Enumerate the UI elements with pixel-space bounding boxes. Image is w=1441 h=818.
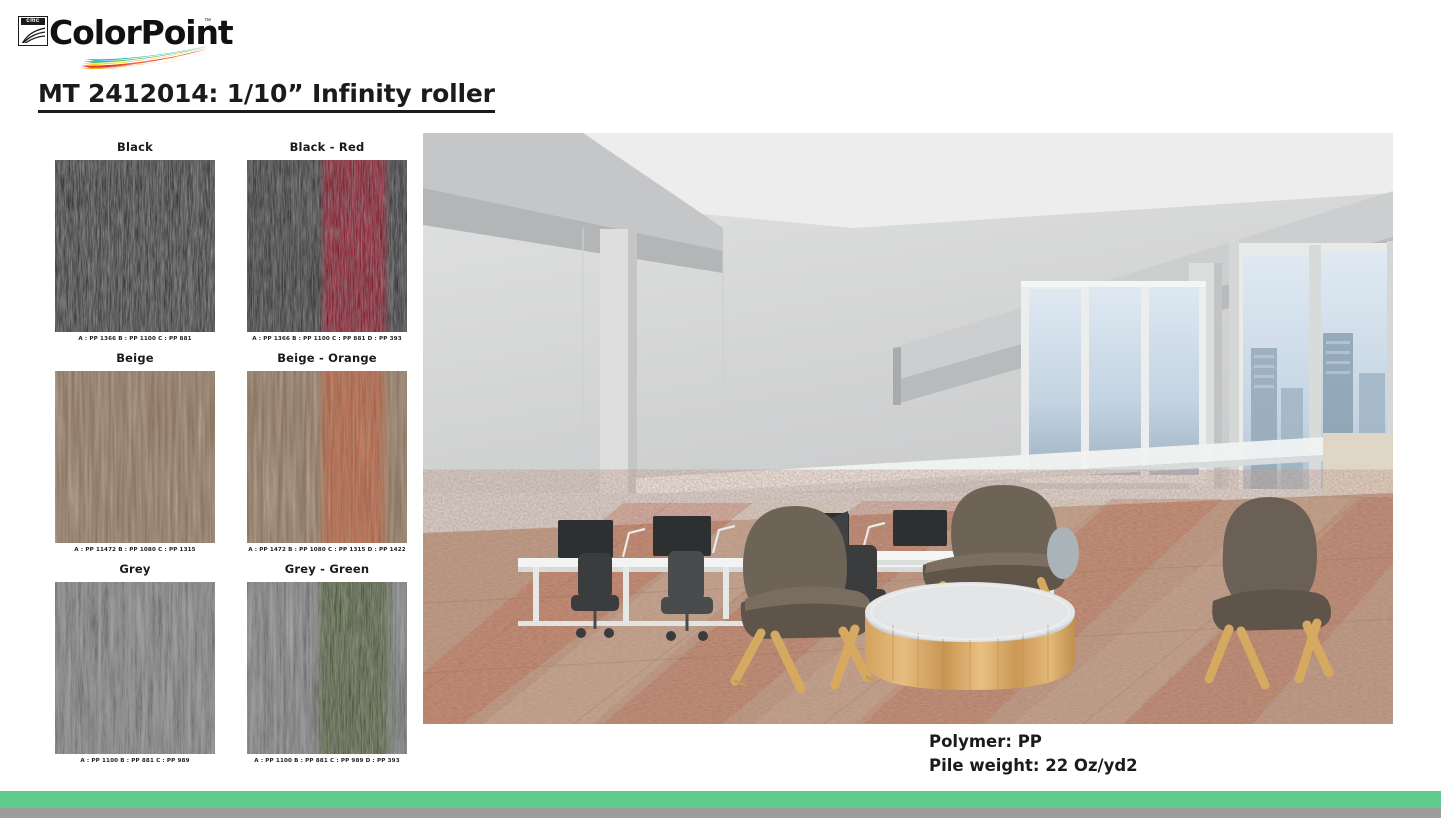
swatch-card-beige-orange[interactable]: Beige - Orange xyxy=(247,351,407,553)
swatch-label: Grey xyxy=(55,562,215,577)
swatch-yarn-codes: A : PP 1472 B : PP 1080 C : PP 1315 D : … xyxy=(247,547,407,553)
swatch-yarn-codes: A : PP 1366 B : PP 1100 C : PP 881 xyxy=(55,336,215,342)
swatch-card-beige[interactable]: Beige A : PP 11472 B : PP 1080 C : PP 13… xyxy=(55,351,215,553)
colorpoint-logo: cmc ColorPoint ™ xyxy=(18,13,213,69)
swatch-texture xyxy=(247,582,407,754)
color-swatch-grid: Black A : PP 1366 B : PP 1100 C : PP 881 xyxy=(55,140,407,764)
swatch-yarn-codes: A : PP 11472 B : PP 1080 C : PP 1315 xyxy=(55,547,215,553)
swatch-image-black-red xyxy=(247,160,407,332)
mark-swoosh-icon xyxy=(21,26,45,43)
product-specs: Polymer: PP Pile weight: 22 Oz/yd2 xyxy=(929,730,1138,778)
swatch-image-grey xyxy=(55,582,215,754)
trademark-symbol: ™ xyxy=(204,18,211,25)
office-interior-photo xyxy=(423,133,1393,724)
swatch-label: Beige - Orange xyxy=(247,351,407,366)
swatch-card-grey-green[interactable]: Grey - Green xyxy=(247,562,407,764)
swatch-image-black xyxy=(55,160,215,332)
swatch-texture xyxy=(55,371,215,543)
round-coffee-table xyxy=(865,582,1075,690)
rainbow-swoosh-icon xyxy=(80,46,212,69)
swatch-yarn-codes: A : PP 1100 B : PP 881 C : PP 989 D : PP… xyxy=(247,758,407,764)
swatch-texture xyxy=(55,160,215,332)
swatch-image-beige xyxy=(55,371,215,543)
swatch-texture xyxy=(247,371,407,543)
swatch-label: Black xyxy=(55,140,215,155)
swatch-card-grey[interactable]: Grey A : PP 1100 B : PP 881 C : PP 989 xyxy=(55,562,215,764)
swatch-image-grey-green xyxy=(247,582,407,754)
office-interior-illustration xyxy=(423,133,1393,724)
footer-grey-bar xyxy=(0,808,1441,818)
cmc-label: cmc xyxy=(21,18,45,25)
swatch-texture xyxy=(55,582,215,754)
swatch-texture xyxy=(247,160,407,332)
swatch-card-black[interactable]: Black A : PP 1366 B : PP 1100 C : PP 881 xyxy=(55,140,215,342)
cmc-mark-icon: cmc xyxy=(18,16,48,46)
swatch-label: Grey - Green xyxy=(247,562,407,577)
swatch-yarn-codes: A : PP 1366 B : PP 1100 C : PP 881 D : P… xyxy=(247,336,407,342)
footer-accent-bar xyxy=(0,791,1441,808)
swatch-image-beige-orange xyxy=(247,371,407,543)
slide-canvas: cmc ColorPoint ™ MT 241 xyxy=(0,0,1441,818)
spec-pile-weight: Pile weight: 22 Oz/yd2 xyxy=(929,754,1138,778)
swatch-card-black-red[interactable]: Black - Red xyxy=(247,140,407,342)
swatch-yarn-codes: A : PP 1100 B : PP 881 C : PP 989 xyxy=(55,758,215,764)
swatch-label: Beige xyxy=(55,351,215,366)
swatch-label: Black - Red xyxy=(247,140,407,155)
mark-swoosh-svg xyxy=(21,26,45,43)
page-title: MT 2412014: 1/10” Infinity roller xyxy=(38,79,495,113)
spec-polymer: Polymer: PP xyxy=(929,730,1138,754)
